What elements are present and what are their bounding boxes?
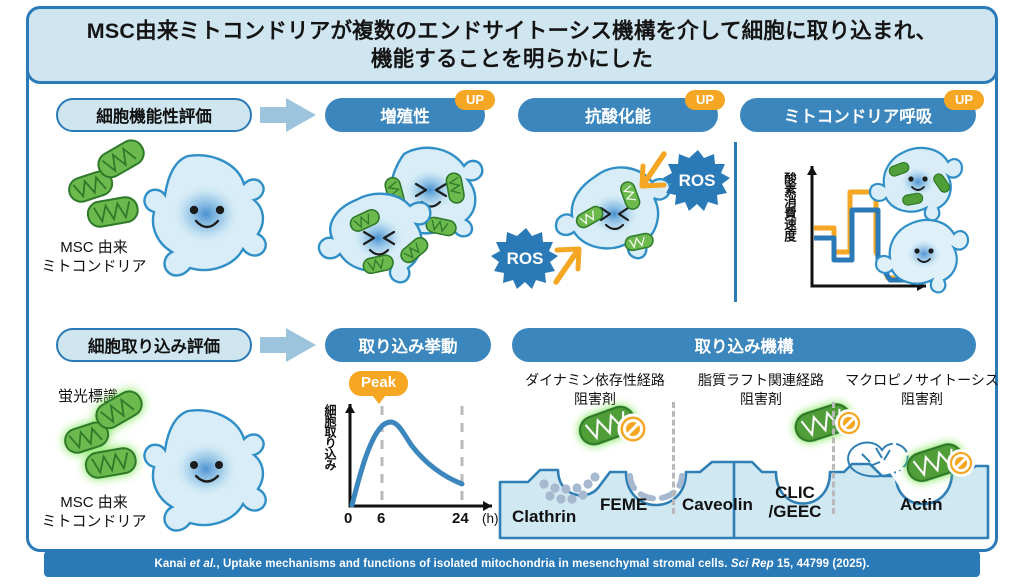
inhibitor-label-macropinocytosis: マクロピノサイトーシス 阻害剤: [834, 371, 1010, 409]
membrane-label-clathrin: Clathrin: [512, 506, 576, 527]
chart-uptake-ylabel: 細胞取り込み: [322, 404, 339, 470]
caveolin-coat-icon: [772, 450, 836, 479]
panel-header-proliferation-label: 増殖性: [380, 103, 430, 127]
cell-body-icon-lower: [319, 194, 431, 283]
panel-header-mito-respiration[interactable]: ミトコンドリア呼吸: [740, 98, 976, 132]
section-header-cell-function-label: 細胞機能性評価: [96, 103, 212, 127]
inhibitor-label-lipid-raft: 脂質ラフト関連経路 阻害剤: [674, 371, 848, 409]
figure-title-line1: MSC由来ミトコンドリアが複数のエンドサイトーシス機構を介して細胞に取り込まれ、: [87, 19, 937, 43]
illustration-respiration-cells: [866, 146, 986, 294]
illustration-proliferating-cells: [312, 142, 502, 297]
panel-header-mito-respiration-label: ミトコンドリア呼吸: [784, 103, 933, 127]
badge-up-proliferation: UP: [455, 90, 495, 110]
inhibitor-label-lipid-raft-line2: 阻害剤: [740, 391, 782, 407]
chart-series-uptake: [352, 422, 462, 505]
panel-header-uptake-mechanism-label: 取り込み機構: [695, 333, 794, 357]
figure-title: MSC由来ミトコンドリアが複数のエンドサイトーシス機構を介して細胞に取り込まれ、…: [61, 17, 963, 74]
caption-msc-mitochondria-row2: MSC 由来 ミトコンドリア: [24, 494, 164, 532]
citation-bar: Kanai et al., Uptake mechanisms and func…: [44, 551, 980, 577]
badge-up-mito-respiration: UP: [944, 90, 984, 110]
caption-msc-mitochondria-row1: MSC 由来 ミトコンドリア: [28, 239, 160, 277]
panel-header-antioxidant-label: 抗酸化能: [585, 103, 651, 127]
figure-title-line2: 機能することを明らかにした: [371, 47, 653, 71]
chart-xtick-6: 6: [377, 510, 385, 527]
cell-body-icon-antioxidant: [556, 167, 670, 258]
arrow-row2: [260, 328, 316, 362]
inhibitor-label-macropinocytosis-line2: 阻害剤: [901, 391, 943, 407]
citation-text: Kanai et al., Uptake mechanisms and func…: [154, 558, 869, 570]
chart-xtick-0: 0: [344, 510, 352, 527]
cell-body-icon: [144, 155, 265, 275]
membrane-label-caveolin: Caveolin: [682, 494, 753, 515]
inhibitor-icon-dynamin: [619, 415, 647, 443]
panel-header-uptake-mechanism[interactable]: 取り込み機構: [512, 328, 976, 362]
inhibitor-label-macropinocytosis-line1: マクロピノサイトーシス: [845, 372, 999, 388]
membrane-label-clic-line2: /GEEC: [769, 502, 822, 521]
chart-uptake-behavior: [340, 398, 500, 518]
badge-up-mito-respiration-label: UP: [955, 93, 973, 106]
chart-peak-callout: Peak: [349, 371, 408, 396]
section-header-cell-uptake-label: 細胞取り込み評価: [88, 333, 220, 357]
citation-tail: 15, 44799 (2025).: [774, 558, 870, 570]
citation-journal: Sci Rep: [731, 558, 774, 570]
illustration-antioxidant-ros: ROS ROS: [496, 142, 732, 292]
figure-title-banner: MSC由来ミトコンドリアが複数のエンドサイトーシス機構を介して細胞に取り込まれ、…: [26, 6, 998, 84]
caption-msc-mitochondria-row1-line2: ミトコンドリア: [41, 258, 146, 275]
ros-burst-bottom-label: ROS: [507, 249, 544, 268]
citation-authors: Kanai: [154, 558, 186, 570]
inhibitor-icon-actin: [949, 451, 974, 476]
section-header-cell-uptake[interactable]: 細胞取り込み評価: [56, 328, 252, 362]
arrow-row1: [260, 98, 316, 132]
citation-etal: et al.: [190, 558, 217, 570]
cell-with-mitochondria-icon: [870, 148, 962, 220]
ros-burst-top: ROS: [663, 150, 730, 211]
caption-msc-mitochondria-row1-line1: MSC 由来: [60, 239, 128, 256]
cell-plain-icon: [876, 220, 968, 292]
panel-header-uptake-behavior-label: 取り込み挙動: [359, 333, 458, 357]
ros-burst-bottom: ROS: [491, 228, 558, 289]
inhibitor-label-dynamin: ダイナミン依存性経路 阻害剤: [508, 371, 682, 409]
badge-up-antioxidant-label: UP: [696, 93, 714, 106]
inhibitor-label-dynamin-line1: ダイナミン依存性経路: [525, 372, 665, 388]
caption-msc-mitochondria-row2-line1: MSC 由来: [60, 494, 128, 511]
chart-xaxis-unit: (h): [482, 511, 499, 526]
separator-mechanism-1: [672, 402, 675, 514]
badge-up-proliferation-label: UP: [466, 93, 484, 106]
section-header-cell-function[interactable]: 細胞機能性評価: [56, 98, 252, 132]
inhibitor-icon-caveolin: [837, 411, 862, 436]
graphical-abstract: MSC由来ミトコンドリアが複数のエンドサイトーシス機構を介して細胞に取り込まれ、…: [0, 0, 1024, 584]
membrane-label-actin: Actin: [900, 494, 943, 515]
mitochondria-icon-group: [66, 136, 148, 229]
panel-header-uptake-behavior[interactable]: 取り込み挙動: [325, 328, 491, 362]
ros-burst-top-label: ROS: [679, 171, 716, 190]
inhibitor-label-dynamin-line2: 阻害剤: [574, 391, 616, 407]
inhibitor-label-lipid-raft-line1: 脂質ラフト関連経路: [698, 372, 824, 388]
caption-msc-mitochondria-row2-line2: ミトコンドリア: [41, 513, 146, 530]
divider-row1-right: [734, 142, 737, 302]
citation-body: , Uptake mechanisms and functions of iso…: [216, 558, 730, 570]
membrane-label-clic-geec: CLIC /GEEC: [760, 483, 830, 521]
chart-xtick-24: 24: [452, 510, 469, 527]
chart-peak-callout-label: Peak: [361, 374, 396, 391]
membrane-label-feme: FEME: [600, 494, 647, 515]
membrane-label-clic-line1: CLIC: [775, 483, 815, 502]
chart-oxygen-ylabel: 酸素消費速度: [780, 172, 799, 241]
arrow-ros-out-bottom: [556, 249, 579, 282]
separator-mechanism-2: [832, 402, 835, 514]
badge-up-antioxidant: UP: [685, 90, 725, 110]
